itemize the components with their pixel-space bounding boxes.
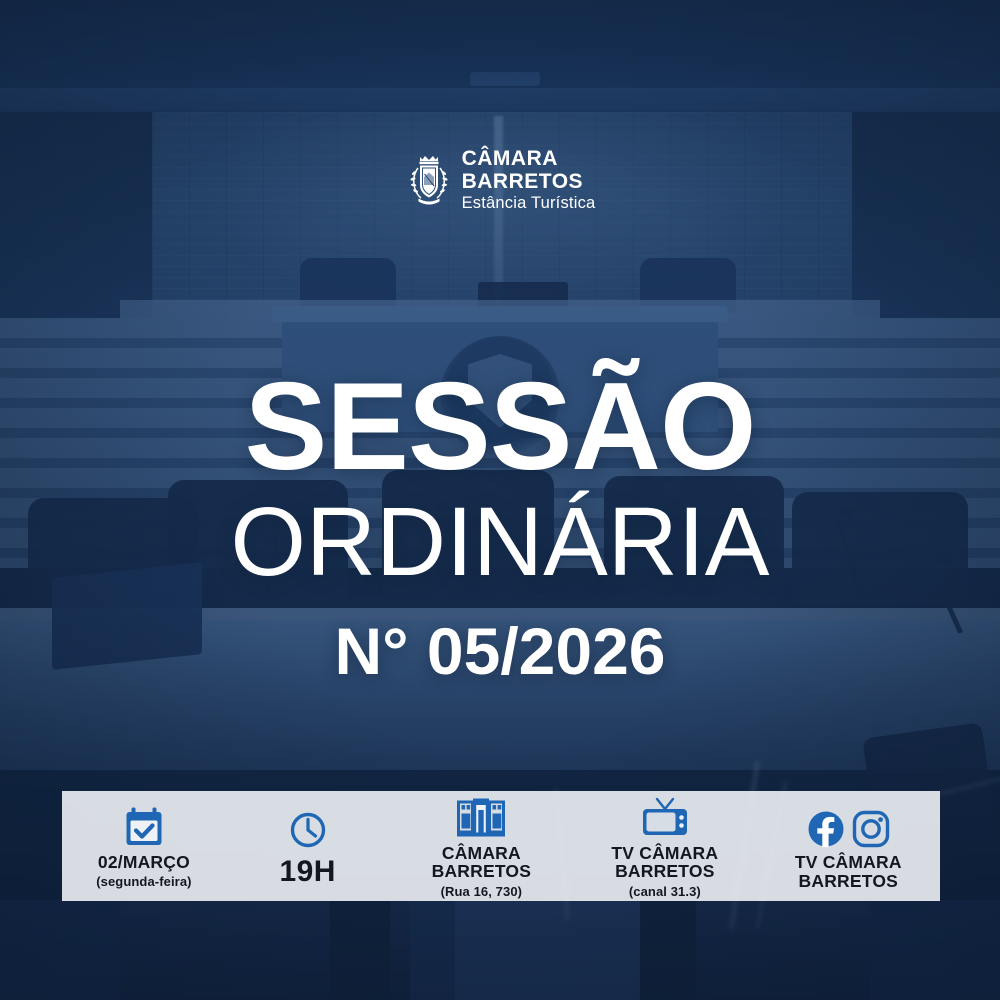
brand-line-3: Estância Turística <box>462 195 596 212</box>
brand-text: CÂMARA BARRETOS Estância Turística <box>462 148 596 212</box>
building-icon <box>455 797 507 839</box>
info-tv-title-line2: BARRETOS <box>615 862 714 881</box>
brand-line-2: BARRETOS <box>462 171 596 192</box>
info-tv-subtitle: (canal 31.3) <box>629 884 701 900</box>
social-icons-group <box>807 806 890 848</box>
info-item-time: 19H <box>226 791 390 901</box>
headline-block: SESSÃO ORDINÁRIA N° 05/2026 <box>0 368 1000 684</box>
calendar-check-icon <box>124 806 164 848</box>
barretos-coat-of-arms-icon <box>405 152 453 208</box>
session-announcement-poster: CÂMARA BARRETOS Estância Turística SESSÃ… <box>0 0 1000 1000</box>
info-item-tv: TV CÂMARA BARRETOS (canal 31.3) <box>573 791 756 901</box>
session-number: N° 05/2026 <box>0 618 1000 684</box>
info-item-venue: CÂMARA BARRETOS (Rua 16, 730) <box>390 791 573 901</box>
info-venue-title-line2: BARRETOS <box>432 862 531 881</box>
info-date-subtitle: (segunda-feira) <box>96 874 191 890</box>
clock-icon <box>288 809 328 851</box>
info-venue-subtitle: (Rua 16, 730) <box>441 884 523 900</box>
info-social-title-line2: BARRETOS <box>799 872 898 891</box>
brand-logo: CÂMARA BARRETOS Estância Turística <box>0 148 1000 212</box>
brand-line-1: CÂMARA <box>462 148 596 169</box>
headline-line-2: ORDINÁRIA <box>0 493 1000 592</box>
info-date-title: 02/MARÇO <box>98 853 190 872</box>
television-icon <box>640 797 690 839</box>
info-venue-title-line1: CÂMARA <box>442 844 521 863</box>
info-item-social: TV CÂMARA BARRETOS <box>757 791 940 901</box>
info-social-title-line1: TV CÂMARA <box>795 853 902 872</box>
info-item-date: 02/MARÇO (segunda-feira) <box>62 791 226 901</box>
headline-line-1: SESSÃO <box>0 368 1000 487</box>
info-bar: 02/MARÇO (segunda-feira) 19H <box>62 791 940 901</box>
info-time-title: 19H <box>279 856 336 888</box>
instagram-icon[interactable] <box>852 810 890 848</box>
facebook-icon[interactable] <box>807 810 845 848</box>
info-tv-title-line1: TV CÂMARA <box>611 844 718 863</box>
